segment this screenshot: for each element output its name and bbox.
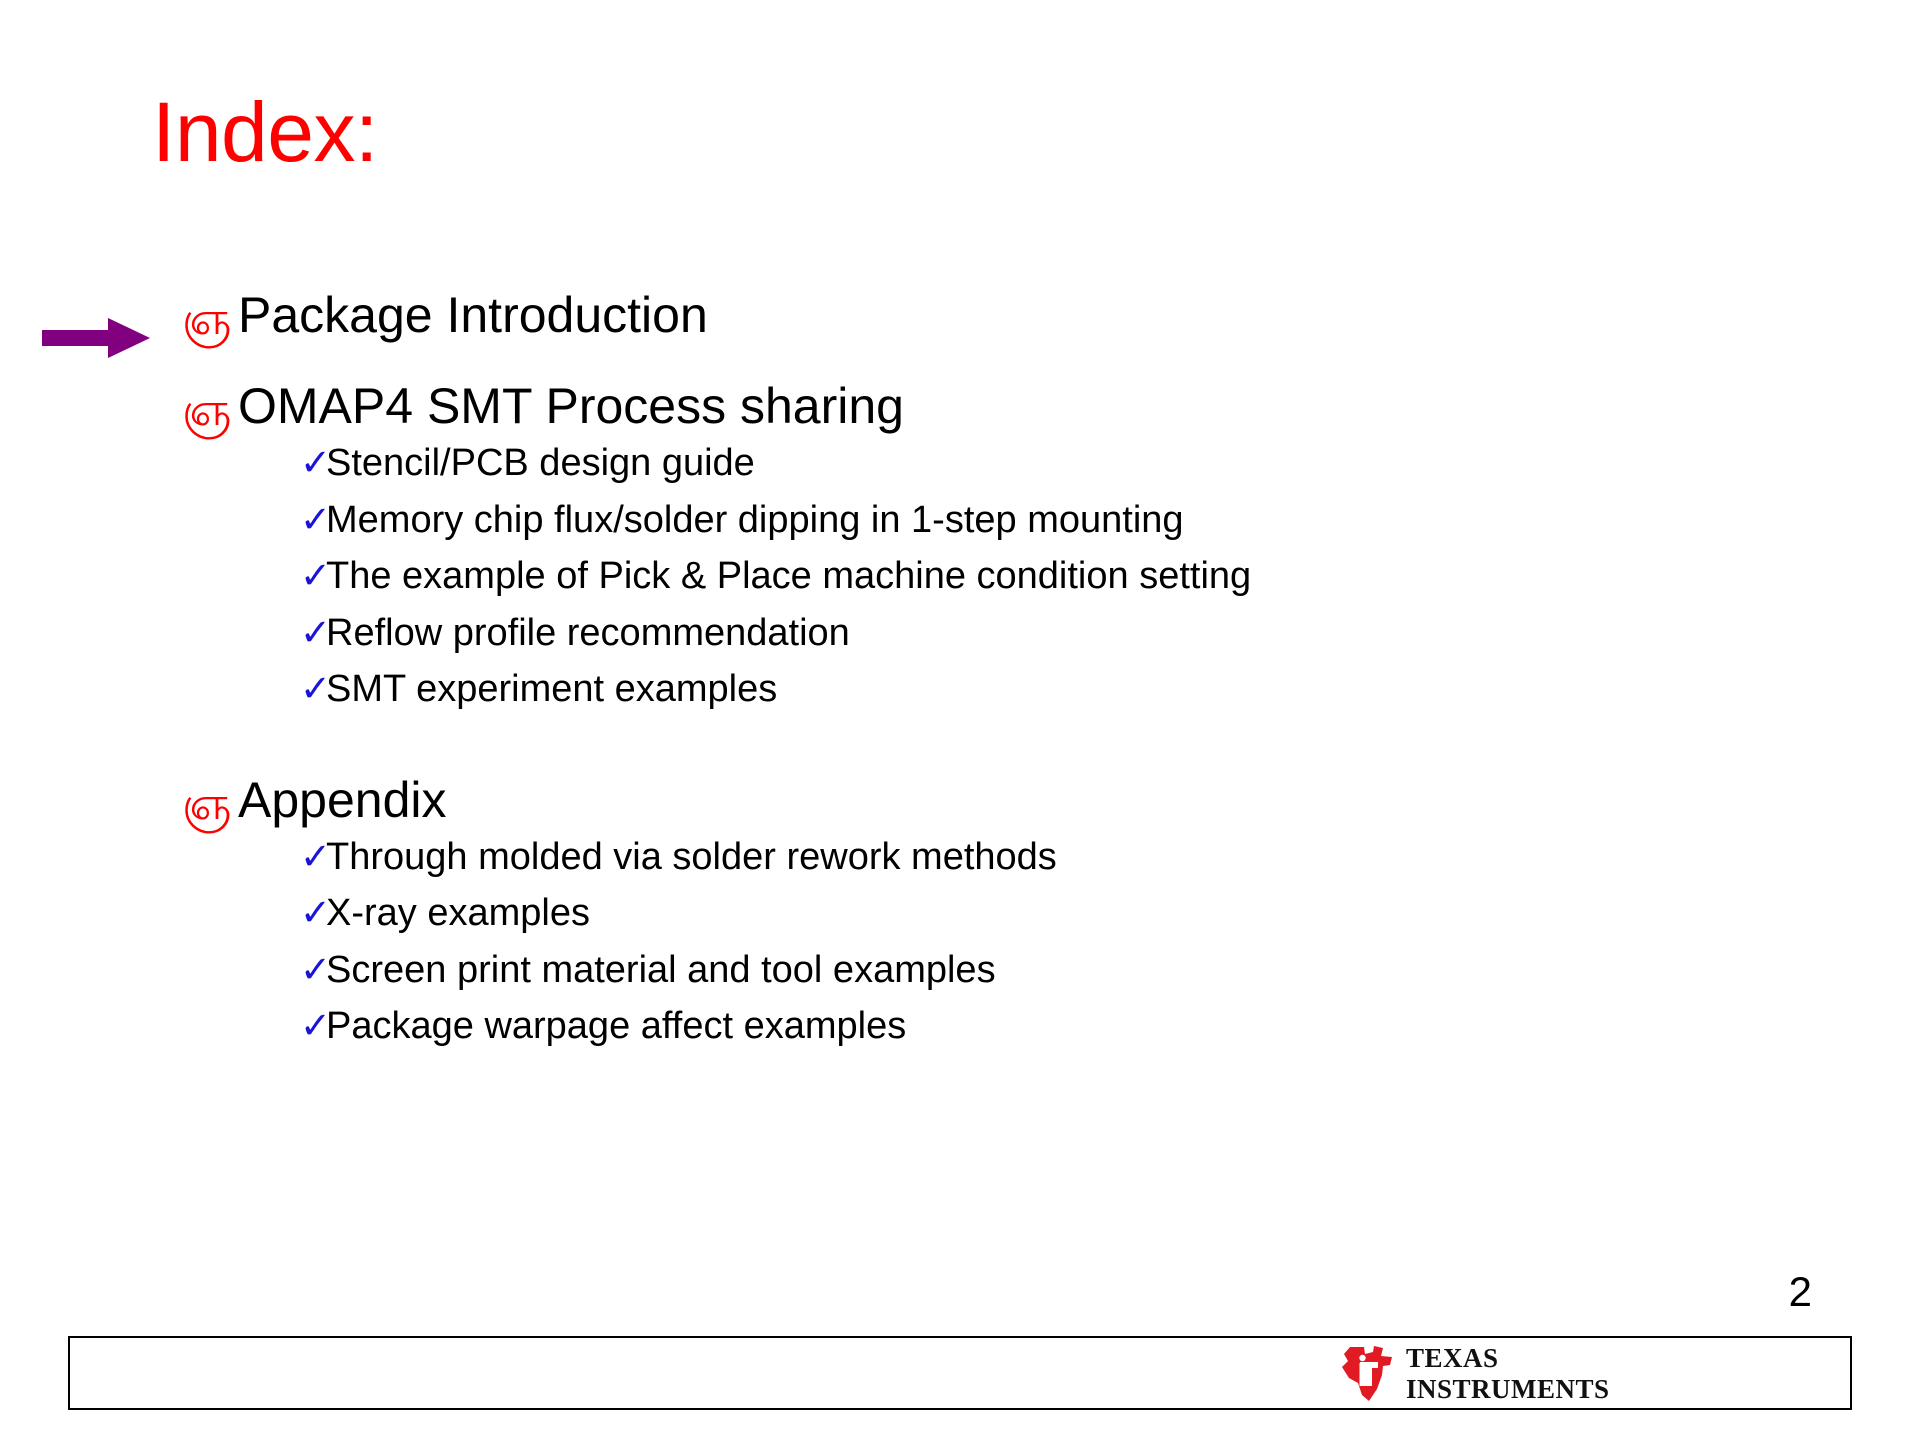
check-icon: ✓ [300,670,326,707]
check-icon: ✓ [300,838,326,875]
outline-subitem-label: SMT experiment examples [326,668,777,711]
check-icon: ✓ [300,557,326,594]
outline-item-appendix[interactable]: ஞ Appendix [0,771,1920,830]
slide-canvas: Index: ஞ Package Introduction ஞ OMAP4 SM… [0,0,1920,1440]
outline-list: ஞ Package Introduction ஞ OMAP4 SMT Proce… [0,286,1920,1062]
check-icon: ✓ [300,894,326,931]
outline-subitem-through-molded-via-solder-rework[interactable]: ✓ Through molded via solder rework metho… [0,836,1920,879]
outline-item-label: OMAP4 SMT Process sharing [238,377,904,436]
outline-subitem-label: Package warpage affect examples [326,1005,906,1048]
fleuron-bullet-icon: ஞ [182,781,238,827]
fleuron-bullet-icon: ஞ [182,296,238,342]
spacer [0,351,1920,377]
outline-subitem-label: Through molded via solder rework methods [326,836,1057,879]
outline-subitem-label: Reflow profile recommendation [326,612,850,655]
check-icon: ✓ [300,501,326,538]
ti-wordmark-line1: TEXAS [1406,1345,1610,1372]
check-icon: ✓ [300,1007,326,1044]
outline-subitem-stencil-pcb-design-guide[interactable]: ✓ Stencil/PCB design guide [0,442,1920,485]
outline-subitem-memory-chip-flux-solder-dipping[interactable]: ✓ Memory chip flux/solder dipping in 1-s… [0,499,1920,542]
check-icon: ✓ [300,614,326,651]
outline-subitem-label: Screen print material and tool examples [326,949,996,992]
check-icon: ✓ [300,444,326,481]
fleuron-bullet-icon: ஞ [182,387,238,433]
outline-subitem-x-ray-examples[interactable]: ✓ X-ray examples [0,892,1920,935]
ti-wordmark: TEXAS INSTRUMENTS [1406,1345,1610,1403]
outline-item-package-introduction[interactable]: ஞ Package Introduction [0,286,1920,345]
outline-subitem-label: Memory chip flux/solder dipping in 1-ste… [326,499,1184,542]
page-number: 2 [1789,1268,1812,1316]
ti-wordmark-line2: INSTRUMENTS [1406,1376,1610,1403]
check-icon: ✓ [300,951,326,988]
outline-subitem-label: Stencil/PCB design guide [326,442,755,485]
ti-texas-shape-icon [1340,1345,1396,1403]
outline-item-label: Appendix [238,771,447,830]
outline-item-omap4-smt-process-sharing[interactable]: ஞ OMAP4 SMT Process sharing [0,377,1920,436]
outline-subitem-screen-print-material-and-tool[interactable]: ✓ Screen print material and tool example… [0,949,1920,992]
page-title: Index: [152,90,378,174]
outline-item-label: Package Introduction [238,286,708,345]
outline-subitem-package-warpage-affect-examples[interactable]: ✓ Package warpage affect examples [0,1005,1920,1048]
outline-subitem-smt-experiment-examples[interactable]: ✓ SMT experiment examples [0,668,1920,711]
outline-subitem-label: The example of Pick & Place machine cond… [326,555,1251,598]
outline-subitem-reflow-profile-recommendation[interactable]: ✓ Reflow profile recommendation [0,612,1920,655]
outline-subitem-pick-and-place-machine-condition[interactable]: ✓ The example of Pick & Place machine co… [0,555,1920,598]
outline-subitem-label: X-ray examples [326,892,590,935]
texas-instruments-logo: TEXAS INSTRUMENTS [1340,1342,1610,1406]
spacer [0,725,1920,771]
